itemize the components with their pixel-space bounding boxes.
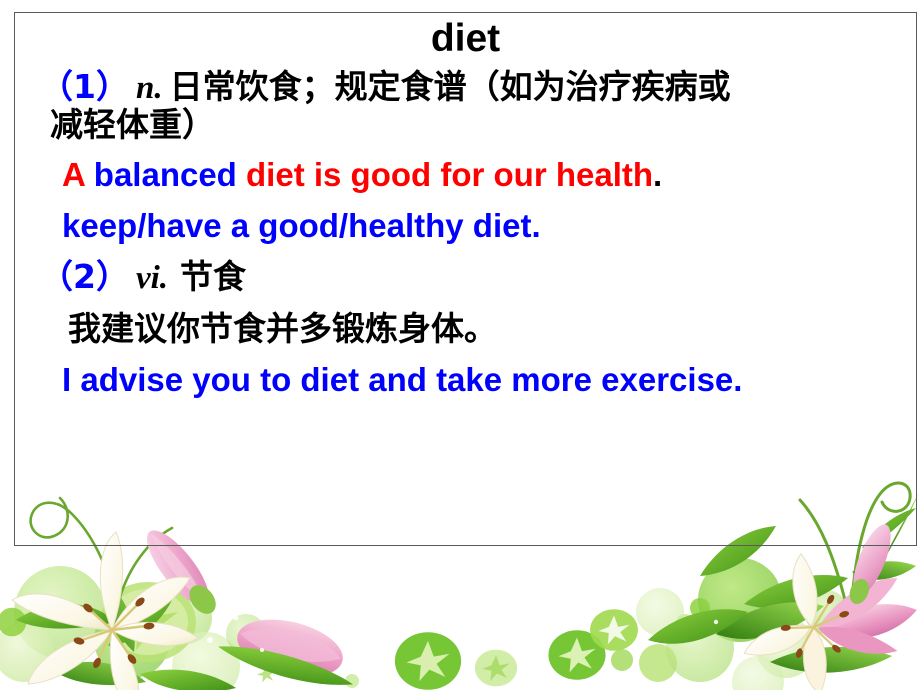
entry-1-definition-line-2: 减轻体重） [14,108,917,142]
entry-2-example-1: I advise you to diet and take more exerc… [14,363,917,397]
lesson-text-block: diet （1）n.日常饮食；规定食谱（如为治疗疾病或 减轻体重） A bala… [14,12,917,546]
slide-canvas: diet （1）n.日常饮食；规定食谱（如为治疗疾病或 减轻体重） A bala… [0,0,920,690]
example-collocation-text: keep/have a good/healthy diet. [62,207,541,244]
leaves-right [648,526,892,673]
entry-1-example-2: keep/have a good/healthy diet. [14,209,917,243]
entry-2-example-text: I advise you to diet and take more exerc… [62,361,742,398]
example-segment-red-2: diet is good for our health [246,156,653,193]
example-segment-period: . [653,156,662,193]
entry-2-chinese-sentence: 我建议你节食并多锻炼身体。 [14,312,917,346]
entry-1-definition-line-1: （1）n.日常饮食；规定食谱（如为治疗疾病或 [14,70,917,106]
entry-1-example-1: A balanced diet is good for our health. [14,158,917,192]
entry-1-pos: n. [136,70,163,106]
entry-1-definition-text-2: 减轻体重） [50,105,215,144]
entry-1-definition-text-1: 日常饮食；规定食谱（如为治疗疾病或 [170,67,731,106]
pink-lily-right [722,527,920,690]
entry-2-pos: vi. [136,260,168,296]
example-segment-red-1: A [62,156,94,193]
entry-2-marker: （2） [40,257,129,296]
entry-2-definition-text: 节食 [180,257,246,296]
entry-2-definition-line: （2）vi.节食 [14,260,917,296]
white-lily [12,532,236,690]
sparkles [207,593,745,652]
pink-lily-left [215,606,364,690]
green-circle-motifs [0,582,710,690]
entry-1-marker: （1） [40,67,129,106]
page-title: diet [14,19,917,60]
example-segment-blue-1: balanced [94,156,246,193]
entry-2-chinese-sentence-text: 我建议你节食并多锻炼身体。 [68,309,497,348]
